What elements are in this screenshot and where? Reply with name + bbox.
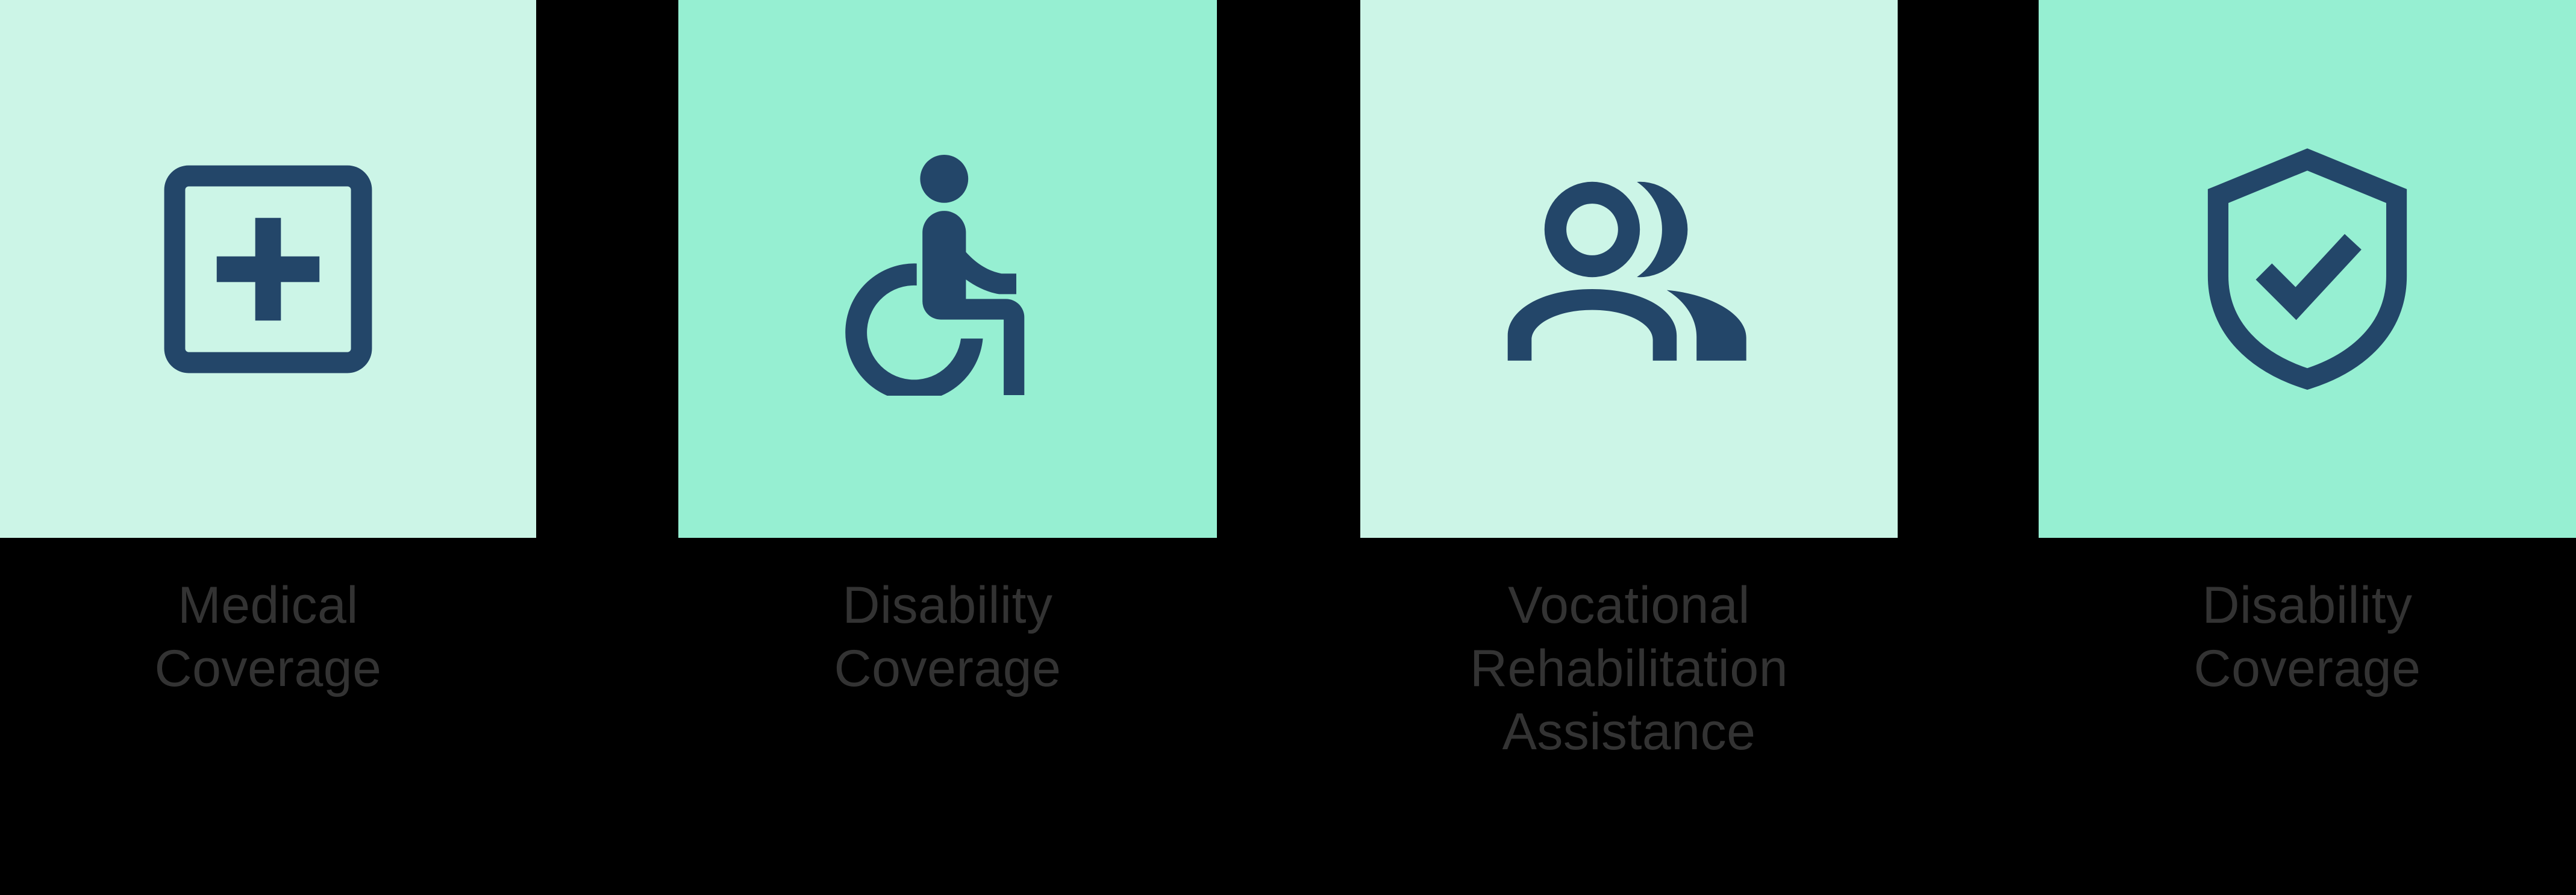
people-group-icon (1499, 170, 1758, 369)
wheelchair-accessibility-icon (833, 143, 1062, 396)
shield-check-icon (2202, 146, 2413, 393)
medical-cross-square-icon (156, 157, 380, 381)
benefit-card-label: Medical Coverage (0, 574, 536, 700)
icon-tile (1360, 0, 1898, 538)
benefit-card-label: Disability Coverage (2039, 574, 2576, 700)
icon-tile (678, 0, 1217, 538)
icon-tile (2039, 0, 2576, 538)
icon-tile (0, 0, 536, 538)
benefit-card-label: Vocational Rehabilitation Assistance (1360, 574, 1898, 764)
benefit-card-disability-coverage[interactable]: Disability Coverage (678, 0, 1217, 700)
benefit-card-label: Disability Coverage (678, 574, 1217, 700)
benefits-card-row: Medical Coverage Disability Coverage (0, 0, 2576, 895)
benefit-card-medical-coverage[interactable]: Medical Coverage (0, 0, 536, 700)
benefit-card-vocational-rehabilitation-assistance[interactable]: Vocational Rehabilitation Assistance (1360, 0, 1898, 764)
benefit-card-disability-coverage-shield[interactable]: Disability Coverage (2039, 0, 2576, 700)
